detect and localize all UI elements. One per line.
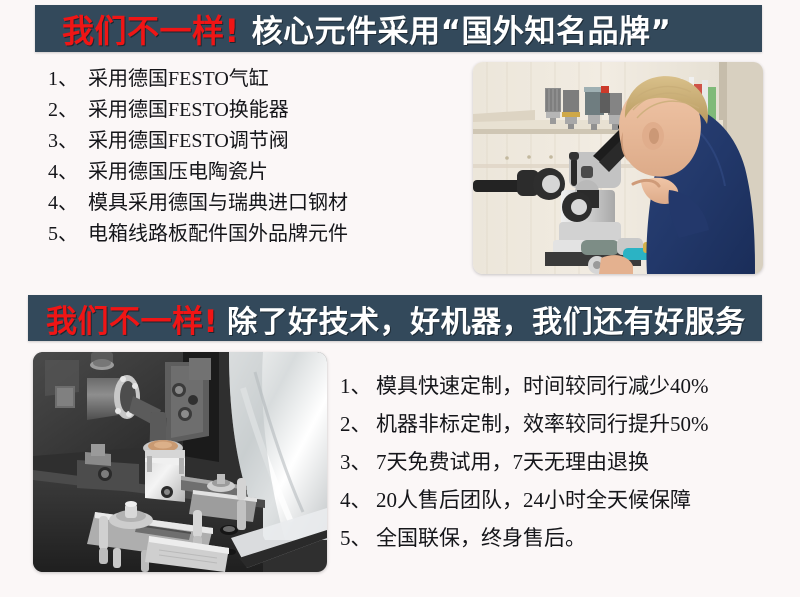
- machine-tooling-illustration: [33, 352, 327, 572]
- machine-tooling-closeup-photo: [33, 352, 327, 572]
- list-item-label: 20人售后团队，24小时全天候保障: [376, 481, 691, 519]
- list-item: 1、 模具快速定制，时间较同行减少40%: [340, 367, 709, 405]
- list-item-label: 机器非标定制，效率较同行提升50%: [376, 405, 709, 443]
- list-item: 5、 全国联保，终身售后。: [340, 519, 709, 557]
- section1-banner: 我们不一样! 核心元件采用“国外知名品牌”: [35, 5, 762, 52]
- list-item-number: 3、: [340, 443, 376, 481]
- list-item-number: 4、: [48, 157, 88, 188]
- section2-banner-title: 除了好技术，好机器，我们还有好服务: [227, 297, 746, 341]
- list-item-number: 2、: [48, 95, 88, 126]
- list-item-number: 4、: [48, 188, 88, 219]
- list-item: 2、 机器非标定制，效率较同行提升50%: [340, 405, 709, 443]
- section1-banner-highlight: 我们不一样!: [62, 6, 240, 52]
- list-item-label: 模具快速定制，时间较同行减少40%: [376, 367, 709, 405]
- list-item: 2、 采用德国FESTO换能器: [48, 95, 348, 126]
- section2-banner: 我们不一样! 除了好技术，好机器，我们还有好服务: [28, 295, 762, 341]
- promo-page: 我们不一样! 核心元件采用“国外知名品牌” 1、 采用德国FESTO气缸 2、 …: [0, 0, 800, 597]
- list-item: 4、 采用德国压电陶瓷片: [48, 157, 348, 188]
- list-item-label: 模具采用德国与瑞典进口钢材: [88, 188, 348, 219]
- list-item-number: 1、: [340, 367, 376, 405]
- section2-service-list: 1、 模具快速定制，时间较同行减少40% 2、 机器非标定制，效率较同行提升50…: [340, 367, 709, 557]
- microscope-inspection-illustration: [473, 62, 763, 274]
- list-item-number: 3、: [48, 126, 88, 157]
- section2-banner-highlight: 我们不一样!: [46, 296, 218, 341]
- list-item: 5、 电箱线路板配件国外品牌元件: [48, 219, 348, 250]
- list-item: 3、 采用德国FESTO调节阀: [48, 126, 348, 157]
- microscope-inspection-photo: [473, 62, 763, 274]
- section2-banner-text: 我们不一样! 除了好技术，好机器，我们还有好服务: [46, 296, 746, 341]
- list-item-label: 采用德国FESTO调节阀: [88, 126, 289, 157]
- list-item: 3、 7天免费试用，7天无理由退换: [340, 443, 709, 481]
- list-item-number: 1、: [48, 64, 88, 95]
- list-item-label: 7天免费试用，7天无理由退换: [376, 443, 649, 481]
- section1-banner-title: 核心元件采用“国外知名品牌”: [252, 6, 672, 51]
- list-item-label: 采用德国FESTO气缸: [88, 64, 269, 95]
- list-item-label: 电箱线路板配件国外品牌元件: [88, 219, 348, 250]
- list-item-number: 4、: [340, 481, 376, 519]
- list-item: 4、 模具采用德国与瑞典进口钢材: [48, 188, 348, 219]
- list-item: 1、 采用德国FESTO气缸: [48, 64, 348, 95]
- section1-banner-text: 我们不一样! 核心元件采用“国外知名品牌”: [62, 6, 671, 52]
- list-item-number: 2、: [340, 405, 376, 443]
- list-item-number: 5、: [340, 519, 376, 557]
- section1-feature-list: 1、 采用德国FESTO气缸 2、 采用德国FESTO换能器 3、 采用德国FE…: [48, 64, 348, 250]
- list-item: 4、 20人售后团队，24小时全天候保障: [340, 481, 709, 519]
- list-item-label: 采用德国FESTO换能器: [88, 95, 289, 126]
- list-item-label: 采用德国压电陶瓷片: [88, 157, 268, 188]
- list-item-number: 5、: [48, 219, 88, 250]
- list-item-label: 全国联保，终身售后。: [376, 519, 586, 557]
